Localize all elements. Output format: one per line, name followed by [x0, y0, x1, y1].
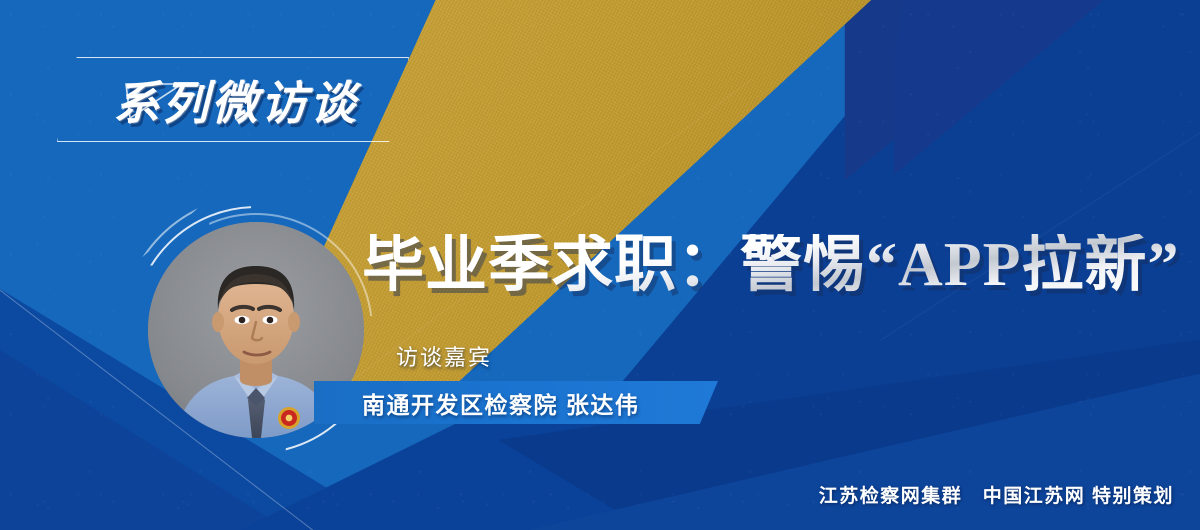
guest-name-text: 南通开发区检察院 张达伟	[362, 381, 639, 424]
speech-bubble-tail-icon	[124, 84, 186, 120]
interview-banner: 系列微访谈	[0, 0, 1200, 530]
series-banner: 系列微访谈	[57, 57, 409, 142]
series-banner-label: 系列微访谈	[57, 57, 409, 142]
footer-credits: 江苏检察网集群 中国江苏网 特别策划	[819, 481, 1174, 508]
guest-label: 访谈嘉宾	[396, 340, 492, 372]
page-title: 毕业季求职：警惕“APP拉新”	[362, 234, 1180, 296]
